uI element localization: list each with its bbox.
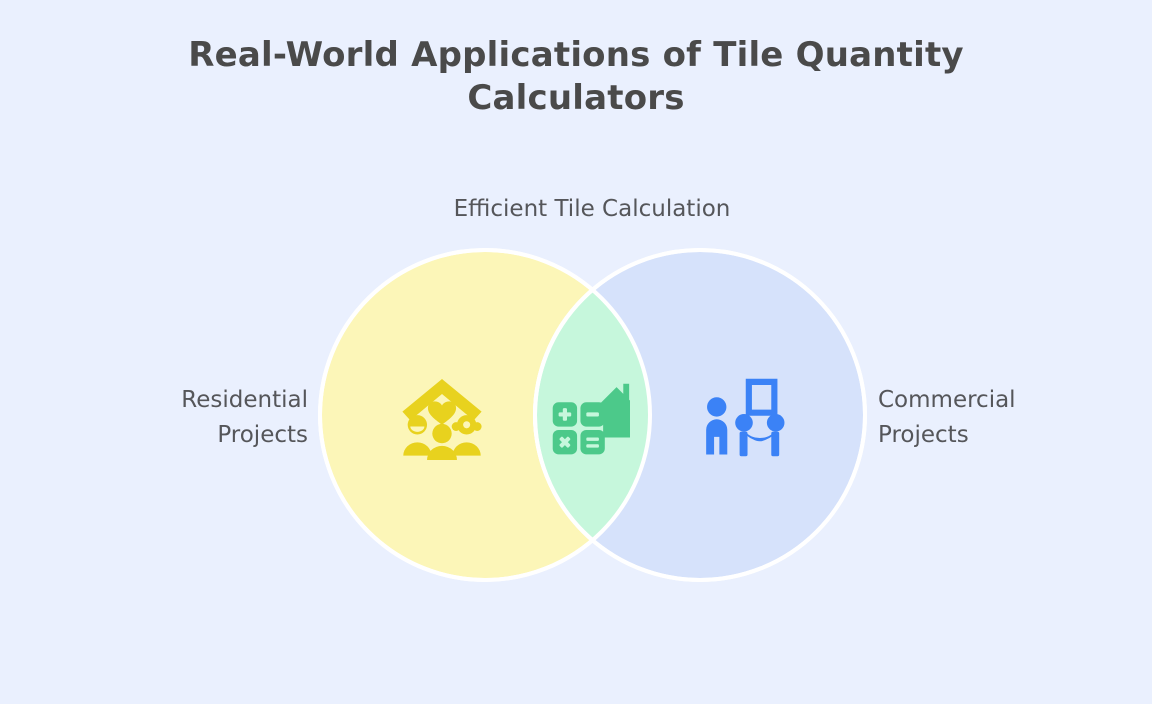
venn-center-label: Efficient Tile Calculation xyxy=(376,192,808,227)
family-home-heart-icon xyxy=(398,372,486,460)
venn-diagram: Efficient Tile Calculation Residential P… xyxy=(0,0,1152,704)
venn-left-label: Residential Projects xyxy=(56,383,308,453)
infographic-page: Real-World Applications of Tile Quantity… xyxy=(0,0,1152,704)
commercial-people-frame-icon xyxy=(700,370,788,458)
venn-right-label: Commercial Projects xyxy=(878,383,1130,453)
calculator-house-icon xyxy=(546,372,630,456)
venn-circles xyxy=(0,0,1152,704)
